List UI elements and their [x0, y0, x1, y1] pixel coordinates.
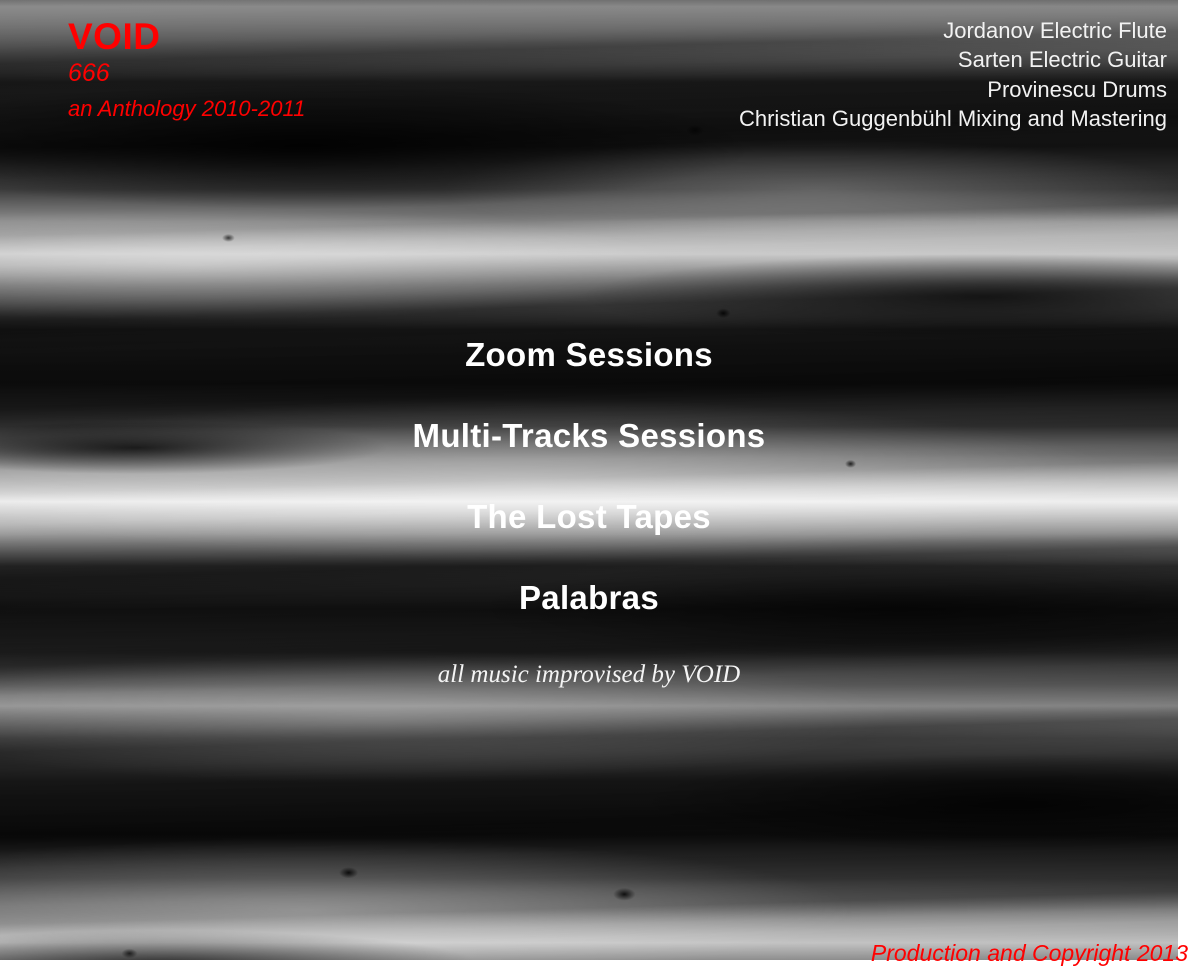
track-title: Zoom Sessions: [0, 338, 1178, 371]
improvisation-note: all music improvised by VOID: [0, 662, 1178, 687]
masthead: VOID 666 an Anthology 2010-2011: [68, 18, 305, 120]
album-number: 666: [68, 61, 305, 86]
track-title: Palabras: [0, 581, 1178, 614]
credit-line: Provinescu Drums: [739, 75, 1167, 104]
album-cover: VOID 666 an Anthology 2010-2011 Jordanov…: [0, 0, 1200, 967]
credit-line: Christian Guggenbühl Mixing and Masterin…: [739, 104, 1167, 133]
copyright-notice: Production and Copyright 2013: [871, 942, 1188, 965]
credits-block: Jordanov Electric Flute Sarten Electric …: [739, 16, 1167, 133]
band-name: VOID: [68, 18, 305, 55]
album-tagline: an Anthology 2010-2011: [68, 98, 305, 120]
credit-line: Sarten Electric Guitar: [739, 45, 1167, 74]
credit-line: Jordanov Electric Flute: [739, 16, 1167, 45]
tracklist: Zoom Sessions Multi-Tracks Sessions The …: [0, 338, 1178, 687]
track-title: The Lost Tapes: [0, 500, 1178, 533]
track-title: Multi-Tracks Sessions: [0, 419, 1178, 452]
